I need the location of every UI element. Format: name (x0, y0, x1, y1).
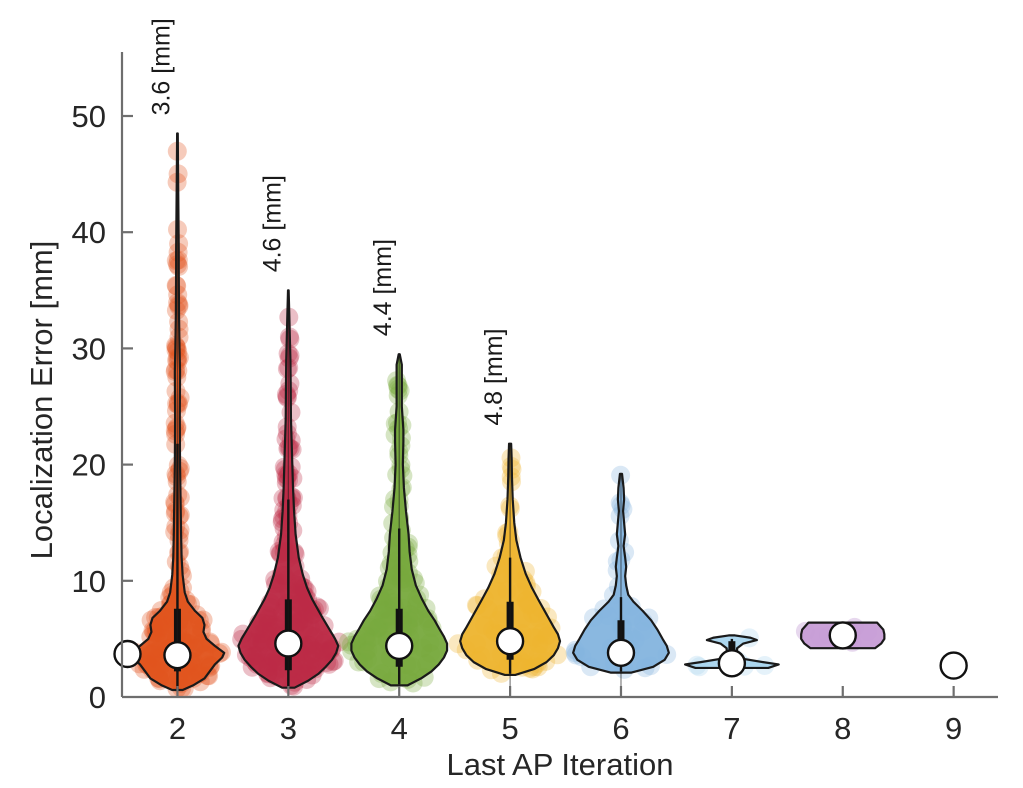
violins-layer (115, 133, 967, 698)
axes-layer (122, 52, 998, 697)
y-tick-label: 0 (89, 680, 106, 715)
violin-group[interactable] (796, 618, 884, 652)
median-annotation: 4.8 [mm] (480, 328, 508, 425)
violin-group[interactable] (449, 444, 567, 697)
x-tick-label: 5 (501, 711, 518, 746)
x-tick-label: 9 (945, 711, 962, 746)
median-marker[interactable] (164, 642, 190, 668)
chart-canvas: 0102030405023456789 3.6 [mm]4.6 [mm]4.4 … (0, 0, 1023, 788)
violin-group[interactable] (339, 354, 447, 697)
median-marker[interactable] (608, 640, 634, 666)
median-marker[interactable] (941, 653, 967, 679)
x-tick-label: 6 (612, 711, 629, 746)
x-tick-label: 3 (280, 711, 297, 746)
y-axis-title: Localization Error [mm] (24, 241, 59, 560)
y-tick-label: 50 (72, 99, 106, 134)
annotations-layer: 3.6 [mm]4.6 [mm]4.4 [mm]4.8 [mm] (147, 18, 508, 426)
x-tick-label: 7 (723, 711, 740, 746)
median-annotation: 4.6 [mm] (258, 175, 286, 272)
violin-group[interactable] (232, 290, 348, 697)
median-marker[interactable] (719, 650, 745, 676)
median-annotation: 4.4 [mm] (369, 239, 397, 336)
y-tick-label: 10 (72, 564, 106, 599)
x-tick-label: 4 (391, 711, 408, 746)
median-marker[interactable] (497, 628, 523, 654)
median-marker[interactable] (386, 633, 412, 659)
x-tick-label: 2 (169, 711, 186, 746)
y-tick-label: 40 (72, 215, 106, 250)
median-marker[interactable] (830, 622, 856, 648)
violin-group[interactable] (126, 133, 231, 698)
violin-chart: 0102030405023456789 3.6 [mm]4.6 [mm]4.4 … (0, 0, 1023, 788)
x-axis-title: Last AP Iteration (447, 747, 674, 782)
y-tick-label: 20 (72, 448, 106, 483)
violin-group[interactable] (685, 628, 779, 676)
x-tick-label: 8 (834, 711, 851, 746)
reference-median-marker[interactable] (115, 641, 141, 667)
median-annotation: 3.6 [mm] (147, 18, 175, 115)
violin-group[interactable] (566, 466, 677, 697)
violin-group[interactable] (941, 653, 967, 679)
median-marker[interactable] (275, 631, 301, 657)
y-tick-label: 30 (72, 331, 106, 366)
